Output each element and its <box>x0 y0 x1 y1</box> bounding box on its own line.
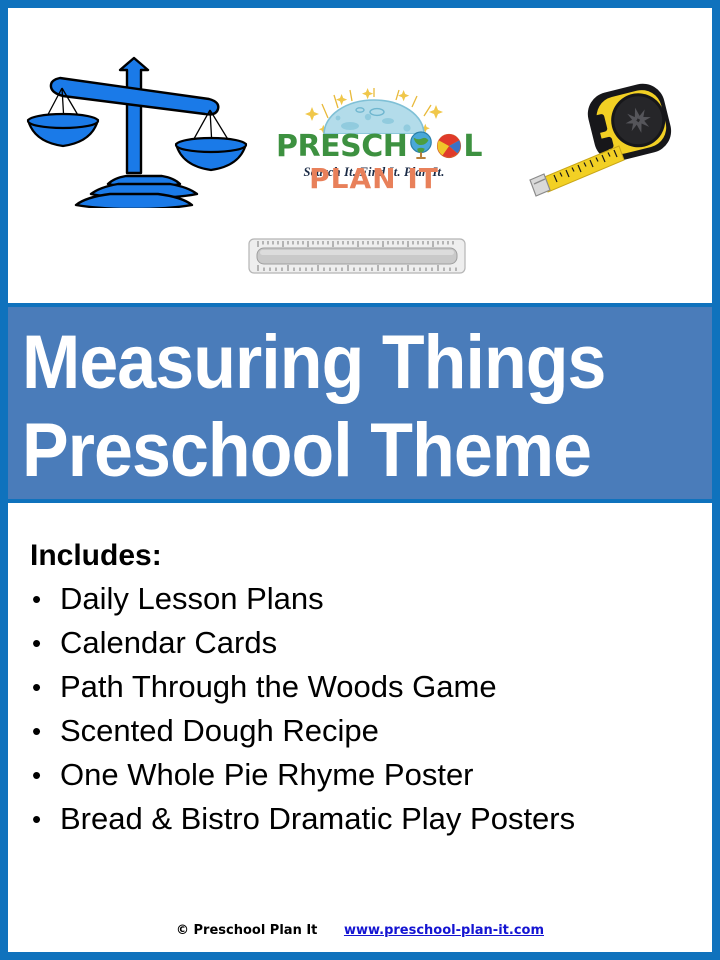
brand-logo: PRESCHL PLAN IT Search It. Find It. Plan… <box>276 88 472 216</box>
website-link[interactable]: www.preschool-plan-it.com <box>344 923 544 938</box>
ruler-icon <box>248 236 466 276</box>
includes-section: Includes: Daily Lesson Plans Calendar Ca… <box>8 503 712 841</box>
includes-heading: Includes: <box>30 539 712 573</box>
balance-scale-icon <box>22 48 252 208</box>
footer: © Preschool Plan It www.preschool-plan-i… <box>8 923 712 938</box>
tape-measure-icon <box>518 74 698 204</box>
list-item: Scented Dough Recipe <box>30 709 712 753</box>
copyright-text: © Preschool Plan It <box>176 923 317 938</box>
list-item: Bread & Bistro Dramatic Play Posters <box>30 797 712 841</box>
poster-page: PRESCHL PLAN IT Search It. Find It. Plan… <box>0 0 720 960</box>
logo-word-preschool: PRESCHL <box>276 129 482 164</box>
list-item: Path Through the Woods Game <box>30 665 712 709</box>
list-item: One Whole Pie Rhyme Poster <box>30 753 712 797</box>
title-band: Measuring Things Preschool Theme <box>8 303 712 503</box>
list-item: Calendar Cards <box>30 621 712 665</box>
includes-list: Daily Lesson Plans Calendar Cards Path T… <box>30 577 712 841</box>
logo-wordmark: PRESCHL PLAN IT <box>276 130 472 164</box>
page-title-line-1: Measuring Things <box>22 319 648 407</box>
beach-ball-icon <box>435 132 463 167</box>
logo-word-planit: PLAN IT <box>276 165 472 193</box>
header-image-band: PRESCHL PLAN IT Search It. Find It. Plan… <box>8 8 712 303</box>
page-title-line-2: Preschool Theme <box>22 407 648 495</box>
list-item: Daily Lesson Plans <box>30 577 712 621</box>
moon-dome-icon <box>276 88 472 134</box>
